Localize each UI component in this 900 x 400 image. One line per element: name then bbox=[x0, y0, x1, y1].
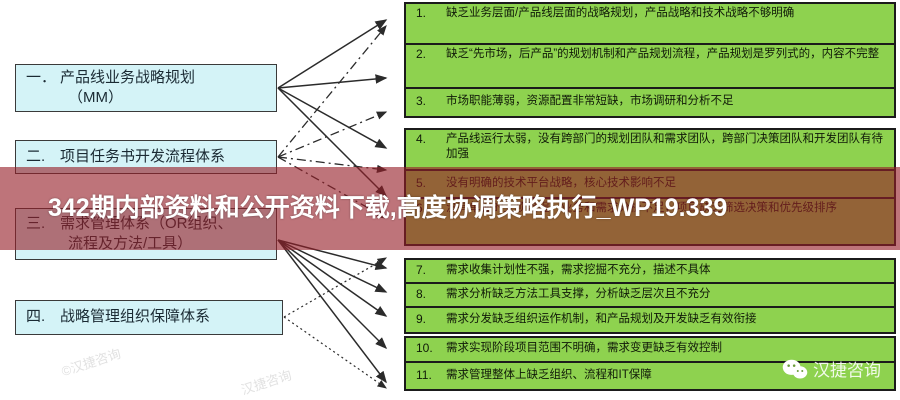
issue-number: 4. bbox=[412, 132, 446, 148]
left-box-2-number: 二. bbox=[26, 147, 60, 167]
left-box-4-line1: 四.战略管理组织保障体系 bbox=[26, 307, 276, 327]
watermark-brand: 汉捷咨询 bbox=[782, 356, 881, 381]
table-row[interactable]: 7. 需求收集计划性不强，需求挖掘不充分，描述不具体 bbox=[406, 260, 894, 284]
issue-text: 需求分发缺乏组织运作机制，和产品规划及开发缺乏有效衔接 bbox=[446, 312, 890, 327]
table-row[interactable]: 3. 市场职能薄弱，资源配置非常短缺，市场调研和分析不足 bbox=[406, 89, 894, 116]
issue-text: 需求收集计划性不强，需求挖掘不充分，描述不具体 bbox=[446, 263, 890, 278]
watermark-brand-label: 汉捷咨询 bbox=[813, 356, 881, 381]
table-row[interactable]: 8. 需求分析缺乏方法工具支撑，分析缺乏层次且不充分 bbox=[406, 284, 894, 308]
table-row[interactable]: 2. 缺乏“先市场，后产品”的规划机制和产品规划流程，产品规划是罗列式的，内容不… bbox=[406, 45, 894, 89]
issue-text: 缺乏业务层面/产品线层面的战略规划，产品战略和技术战略不够明确 bbox=[446, 6, 890, 21]
issue-text: 缺乏“先市场，后产品”的规划机制和产品规划流程，产品规划是罗列式的，内容不完整 bbox=[446, 47, 890, 62]
left-box-1-number: 一． bbox=[26, 68, 60, 88]
table-row[interactable]: 4. 产品线运行太弱，没有跨部门的规划团队和需求团队，跨部门决策团队和开发团队有… bbox=[406, 130, 894, 171]
table-row[interactable]: 1. 缺乏业务层面/产品线层面的战略规划，产品战略和技术战略不够明确 bbox=[406, 4, 894, 45]
issue-group-c: 7. 需求收集计划性不强，需求挖掘不充分，描述不具体 8. 需求分析缺乏方法工具… bbox=[404, 258, 896, 334]
left-box-1-line1: 一．产品线业务战略规划 bbox=[26, 68, 270, 88]
issue-number: 1. bbox=[412, 6, 446, 22]
issue-text: 产品线运行太弱，没有跨部门的规划团队和需求团队，跨部门决策团队和开发团队有待加强 bbox=[446, 132, 890, 162]
issue-number: 3. bbox=[412, 94, 446, 110]
left-box-4[interactable]: 四.战略管理组织保障体系 bbox=[15, 300, 283, 335]
issue-number: 2. bbox=[412, 47, 446, 63]
issue-number: 8. bbox=[412, 287, 446, 303]
left-box-2-line1: 二.项目任务书开发流程体系 bbox=[26, 147, 270, 167]
issue-text: 需求实现阶段项目范围不明确，需求变更缺乏有效控制 bbox=[446, 341, 890, 356]
issue-text: 市场职能薄弱，资源配置非常短缺，市场调研和分析不足 bbox=[446, 94, 890, 109]
left-box-4-number: 四. bbox=[26, 307, 60, 327]
diagram-canvas: 一．产品线业务战略规划 （MM） 二.项目任务书开发流程体系 三.需求管理体系（… bbox=[0, 0, 900, 400]
left-box-1[interactable]: 一．产品线业务战略规划 （MM） bbox=[15, 64, 277, 112]
issue-number: 7. bbox=[412, 263, 446, 279]
table-row[interactable]: 9. 需求分发缺乏组织运作机制，和产品规划及开发缺乏有效衔接 bbox=[406, 308, 894, 332]
issue-number: 11. bbox=[412, 368, 446, 384]
wechat-icon bbox=[782, 358, 808, 380]
overlay-banner: 342期内部资料和公开资料下载,高度协调策略执行_WP19.339 bbox=[0, 167, 900, 250]
issue-group-a: 1. 缺乏业务层面/产品线层面的战略规划，产品战略和技术战略不够明确 2. 缺乏… bbox=[404, 2, 896, 118]
watermark-faint-mid: 汉捷咨询 bbox=[238, 364, 293, 398]
issue-number: 10. bbox=[412, 341, 446, 357]
issue-number: 9. bbox=[412, 312, 446, 328]
left-box-1-line2: （MM） bbox=[26, 88, 270, 108]
overlay-title: 342期内部资料和公开资料下载,高度协调策略执行_WP19.339 bbox=[0, 194, 900, 224]
issue-text: 需求分析缺乏方法工具支撑，分析缺乏层次且不充分 bbox=[446, 287, 890, 302]
watermark-faint-left: ©汉捷咨询 bbox=[59, 343, 123, 380]
